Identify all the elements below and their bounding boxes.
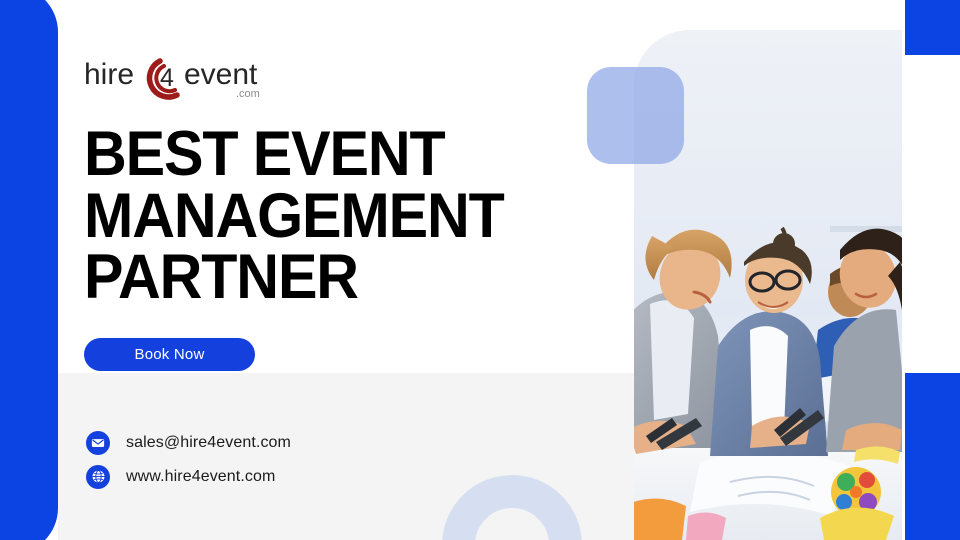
- bottom-right-blue-block: [905, 373, 960, 540]
- contact-email-value: sales@hire4event.com: [126, 434, 291, 452]
- contact-row-website[interactable]: www.hire4event.com: [86, 460, 506, 493]
- logo-text-hire: hire: [84, 58, 134, 91]
- contact-website-value: www.hire4event.com: [126, 468, 275, 486]
- contact-row-email[interactable]: sales@hire4event.com: [86, 426, 506, 459]
- top-right-blue-block: [905, 0, 960, 55]
- globe-icon: [86, 465, 110, 489]
- book-now-button[interactable]: Book Now: [84, 338, 255, 371]
- headline: BEST EVENT MANAGEMENT PARTNER: [84, 124, 573, 309]
- contact-list: sales@hire4event.com www.hire4event.com: [86, 426, 506, 493]
- headline-line-3: PARTNER: [84, 247, 573, 309]
- logo-text-tld: .com: [236, 88, 260, 100]
- left-blue-bar: [0, 0, 58, 540]
- headline-line-2: MANAGEMENT: [84, 186, 573, 248]
- logo-text-four: 4: [160, 64, 174, 92]
- logo-text-event: event: [184, 58, 258, 91]
- headline-line-1: BEST EVENT: [84, 124, 573, 186]
- decorative-rounded-square: [587, 67, 684, 164]
- envelope-icon: [86, 431, 110, 455]
- brand-logo[interactable]: hire 4 event .com: [84, 52, 284, 104]
- brand-logo-mark: hire 4 event .com: [84, 52, 284, 104]
- promotional-banner: hire 4 event .com BEST EVENT MANAGEMENT …: [0, 0, 960, 540]
